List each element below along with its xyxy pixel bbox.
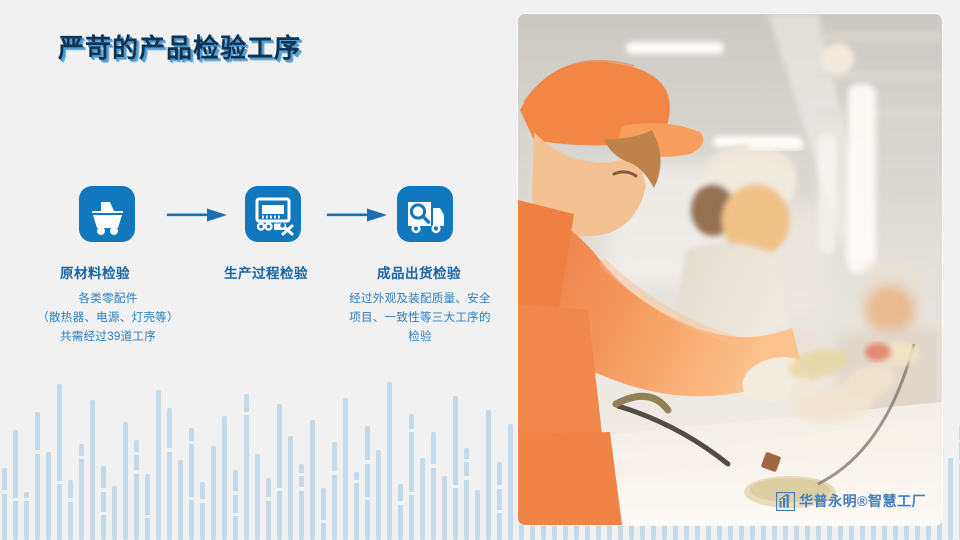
- bar-chart-bar-gap: [453, 485, 458, 488]
- bar-chart-bar-gap: [398, 501, 403, 505]
- bar-chart-bar-gap: [431, 464, 436, 468]
- hpym-logo-icon: [776, 492, 795, 511]
- bar-chart-bar-gap: [145, 515, 150, 518]
- bar-chart-bar-gap: [35, 450, 40, 454]
- bar-chart-bar: [244, 394, 249, 540]
- bar-chart-bar: [233, 470, 238, 540]
- factory-photo: 华普永明®智慧工厂: [518, 14, 942, 525]
- step-desc-shipment: 经过外观及装配质量、安全 项目、一致性等三大工序的 检验: [330, 290, 510, 347]
- material-cart-glyph: [79, 186, 135, 242]
- bar-chart-bar: [211, 446, 216, 540]
- bar-chart-bar: [431, 432, 436, 540]
- truck-inspect-glyph: [397, 186, 453, 242]
- step-desc-raw-material: 各类零配件 （散热器、电源、灯壳等） 共需经过39道工序: [10, 290, 206, 347]
- page-title-text: 严苛的产品检验工序: [58, 28, 301, 65]
- bar-chart-bar: [90, 400, 95, 540]
- bar-chart-bar: [145, 474, 150, 540]
- arrow-right-glyph: [327, 208, 389, 222]
- bar-chart-bar: [46, 452, 51, 540]
- bar-chart-bar-gap: [134, 470, 139, 474]
- bar-chart-bar: [156, 390, 161, 540]
- bar-chart-bar: [948, 458, 953, 540]
- bar-chart-bar: [13, 430, 18, 540]
- page-title: 严苛的产品检验工序: [58, 28, 301, 65]
- truck-inspect-icon[interactable]: [397, 186, 453, 242]
- bar-chart-bar: [387, 382, 392, 540]
- material-cart-icon[interactable]: [79, 186, 135, 242]
- bar-chart-bar-gap: [497, 485, 502, 489]
- bar-chart-bar-gap: [57, 481, 62, 484]
- step-desc-line: （散热器、电源、灯壳等）: [10, 309, 206, 328]
- bar-chart-bar: [167, 408, 172, 540]
- bar-chart-bar: [486, 410, 491, 540]
- step-desc-line: 共需经过39道工序: [10, 328, 206, 347]
- process-flow-row: 原材料检验 生产过程检验 成品出货检验 各类零配件 （散热器、电源、灯壳等） 共…: [0, 186, 510, 256]
- bar-chart-bar-gap: [409, 492, 414, 495]
- bar-chart-bar-gap: [464, 476, 469, 480]
- bar-chart-bar: [178, 460, 183, 540]
- machine-tools-glyph: [245, 186, 301, 242]
- bar-chart-bar-gap: [233, 513, 238, 516]
- bar-chart-bar: [398, 484, 403, 540]
- bar-chart-bar: [321, 488, 326, 540]
- step-desc-line: 各类零配件: [10, 290, 206, 309]
- bar-chart-bar-gap: [497, 510, 502, 513]
- bar-chart-bar: [508, 424, 513, 540]
- bar-chart-bar-gap: [189, 441, 194, 444]
- bar-chart-bar-gap: [409, 429, 414, 432]
- bar-chart-bar: [376, 450, 381, 540]
- factory-photo-illustration: [518, 14, 942, 525]
- step-label-raw-material: 原材料检验: [60, 262, 130, 282]
- bar-chart-bar: [310, 420, 315, 540]
- bar-chart-bar: [453, 396, 458, 540]
- bar-chart-bar-gap: [365, 460, 370, 464]
- bar-chart-bar-gap: [244, 412, 249, 415]
- step-label-shipment: 成品出货检验: [377, 262, 461, 282]
- bar-chart-bar-gap: [13, 498, 18, 501]
- watermark-text: 华普永明®智慧工厂: [799, 491, 926, 511]
- bar-chart-bar-gap: [299, 473, 304, 476]
- bar-chart-bar-gap: [354, 480, 359, 483]
- bar-chart-bar-gap: [233, 491, 238, 495]
- bar-chart-bar: [222, 416, 227, 540]
- bar-chart-bar-gap: [266, 497, 271, 501]
- arrow-right-glyph: [167, 208, 229, 222]
- bar-chart-bar: [200, 482, 205, 540]
- bar-chart-bar: [57, 384, 62, 540]
- bar-chart-bar: [35, 412, 40, 540]
- bar-chart-bar: [101, 466, 106, 540]
- bar-chart-bar: [68, 480, 73, 540]
- bar-chart-bar-gap: [464, 459, 469, 462]
- bar-chart-bar: [365, 426, 370, 540]
- bar-chart-bar-gap: [277, 488, 282, 491]
- bar-chart-bar-gap: [332, 471, 337, 475]
- bar-chart-bar: [123, 422, 128, 540]
- bar-chart-bar: [409, 414, 414, 540]
- step-label-production: 生产过程检验: [224, 262, 308, 282]
- bar-chart-bar-gap: [101, 488, 106, 492]
- bar-chart-bar-gap: [189, 497, 194, 500]
- step-desc-line: 检验: [330, 328, 510, 347]
- bar-chart-bar: [420, 458, 425, 540]
- bar-chart-bar: [497, 462, 502, 540]
- bar-chart-bar: [189, 428, 194, 540]
- bar-chart-bar: [475, 490, 480, 540]
- bar-chart-bar-gap: [79, 456, 84, 459]
- machine-tools-icon[interactable]: [245, 186, 301, 242]
- bar-chart-bar-gap: [299, 487, 304, 491]
- bar-chart-bar-gap: [321, 520, 326, 523]
- bar-chart-bar-gap: [24, 498, 29, 501]
- bar-chart-bar-gap: [134, 452, 139, 455]
- process-flow: 原材料检验 生产过程检验 成品出货检验 各类零配件 （散热器、电源、灯壳等） 共…: [0, 186, 510, 256]
- arrow-right-icon: [167, 208, 229, 222]
- watermark: 华普永明®智慧工厂: [776, 491, 926, 511]
- bar-chart-bar: [266, 478, 271, 540]
- bar-chart-bar-gap: [365, 497, 370, 500]
- bar-chart-bar: [2, 468, 7, 540]
- step-desc-line: 项目、一致性等三大工序的: [330, 309, 510, 328]
- bar-chart-bar: [112, 486, 117, 540]
- bar-chart-bar: [288, 436, 293, 540]
- bar-chart-bar: [343, 398, 348, 540]
- arrow-right-icon: [327, 208, 389, 222]
- bar-chart-bar: [332, 442, 337, 540]
- bar-chart-bar: [277, 404, 282, 540]
- bar-chart-bar-gap: [68, 498, 73, 502]
- slide-root: 严苛的产品检验工序: [0, 0, 960, 540]
- bar-chart-bar-gap: [2, 490, 7, 494]
- bar-chart-bar: [255, 454, 260, 540]
- bar-chart-bar: [442, 476, 447, 540]
- step-desc-line: 经过外观及装配质量、安全: [330, 290, 510, 309]
- bar-chart-bar-gap: [200, 499, 205, 503]
- bar-chart-bar-gap: [101, 512, 106, 515]
- bar-chart-bar-gap: [167, 448, 172, 452]
